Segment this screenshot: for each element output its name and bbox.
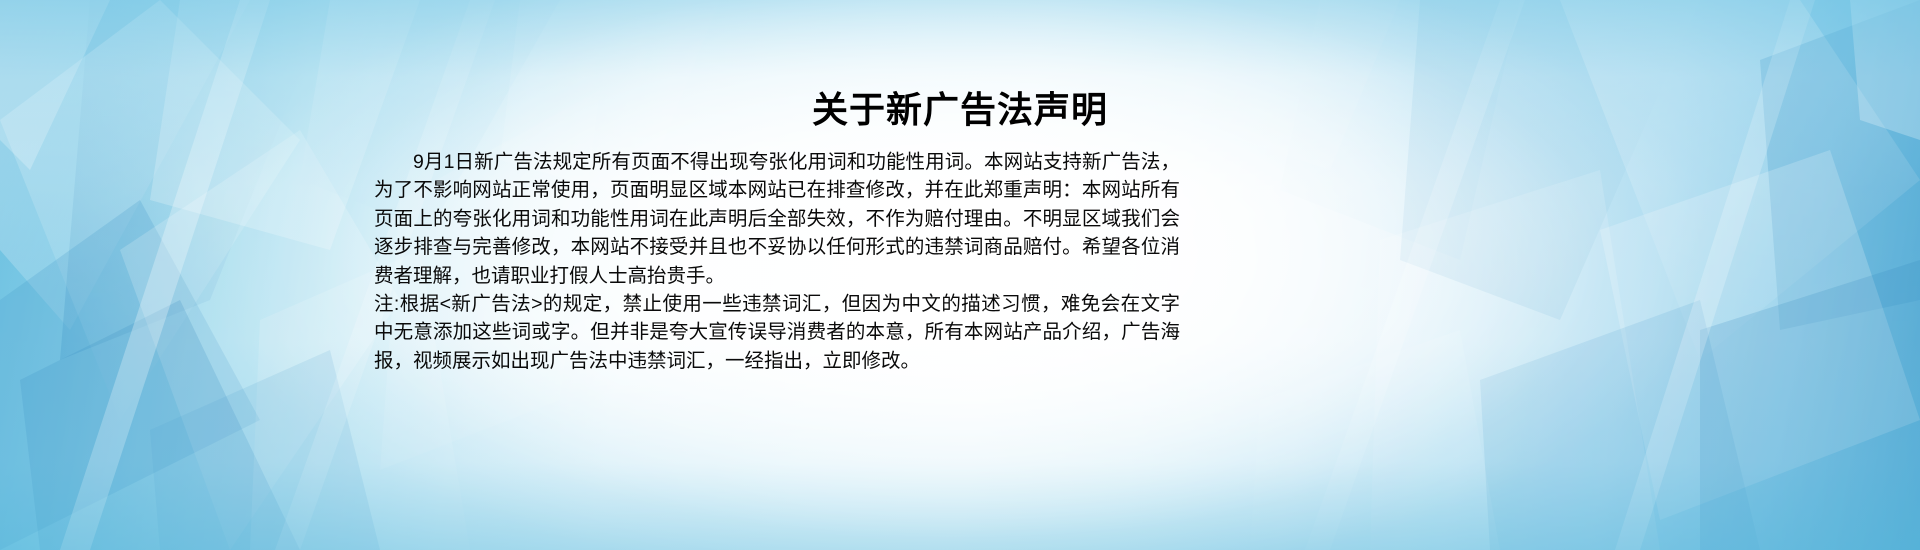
statement-paragraph-2: 注:根据<新广告法>的规定，禁止使用一些违禁词汇，但因为中文的描述习惯，难免会在…	[374, 290, 1180, 375]
page-title: 关于新广告法声明	[0, 88, 1920, 132]
statement-content: 关于新广告法声明 9月1日新广告法规定所有页面不得出现夸张化用词和功能性用词。本…	[0, 0, 1920, 550]
advertising-law-statement-banner: 关于新广告法声明 9月1日新广告法规定所有页面不得出现夸张化用词和功能性用词。本…	[0, 0, 1920, 550]
statement-paragraph-1: 9月1日新广告法规定所有页面不得出现夸张化用词和功能性用词。本网站支持新广告法，…	[374, 148, 1180, 290]
statement-body: 9月1日新广告法规定所有页面不得出现夸张化用词和功能性用词。本网站支持新广告法，…	[374, 148, 1180, 375]
